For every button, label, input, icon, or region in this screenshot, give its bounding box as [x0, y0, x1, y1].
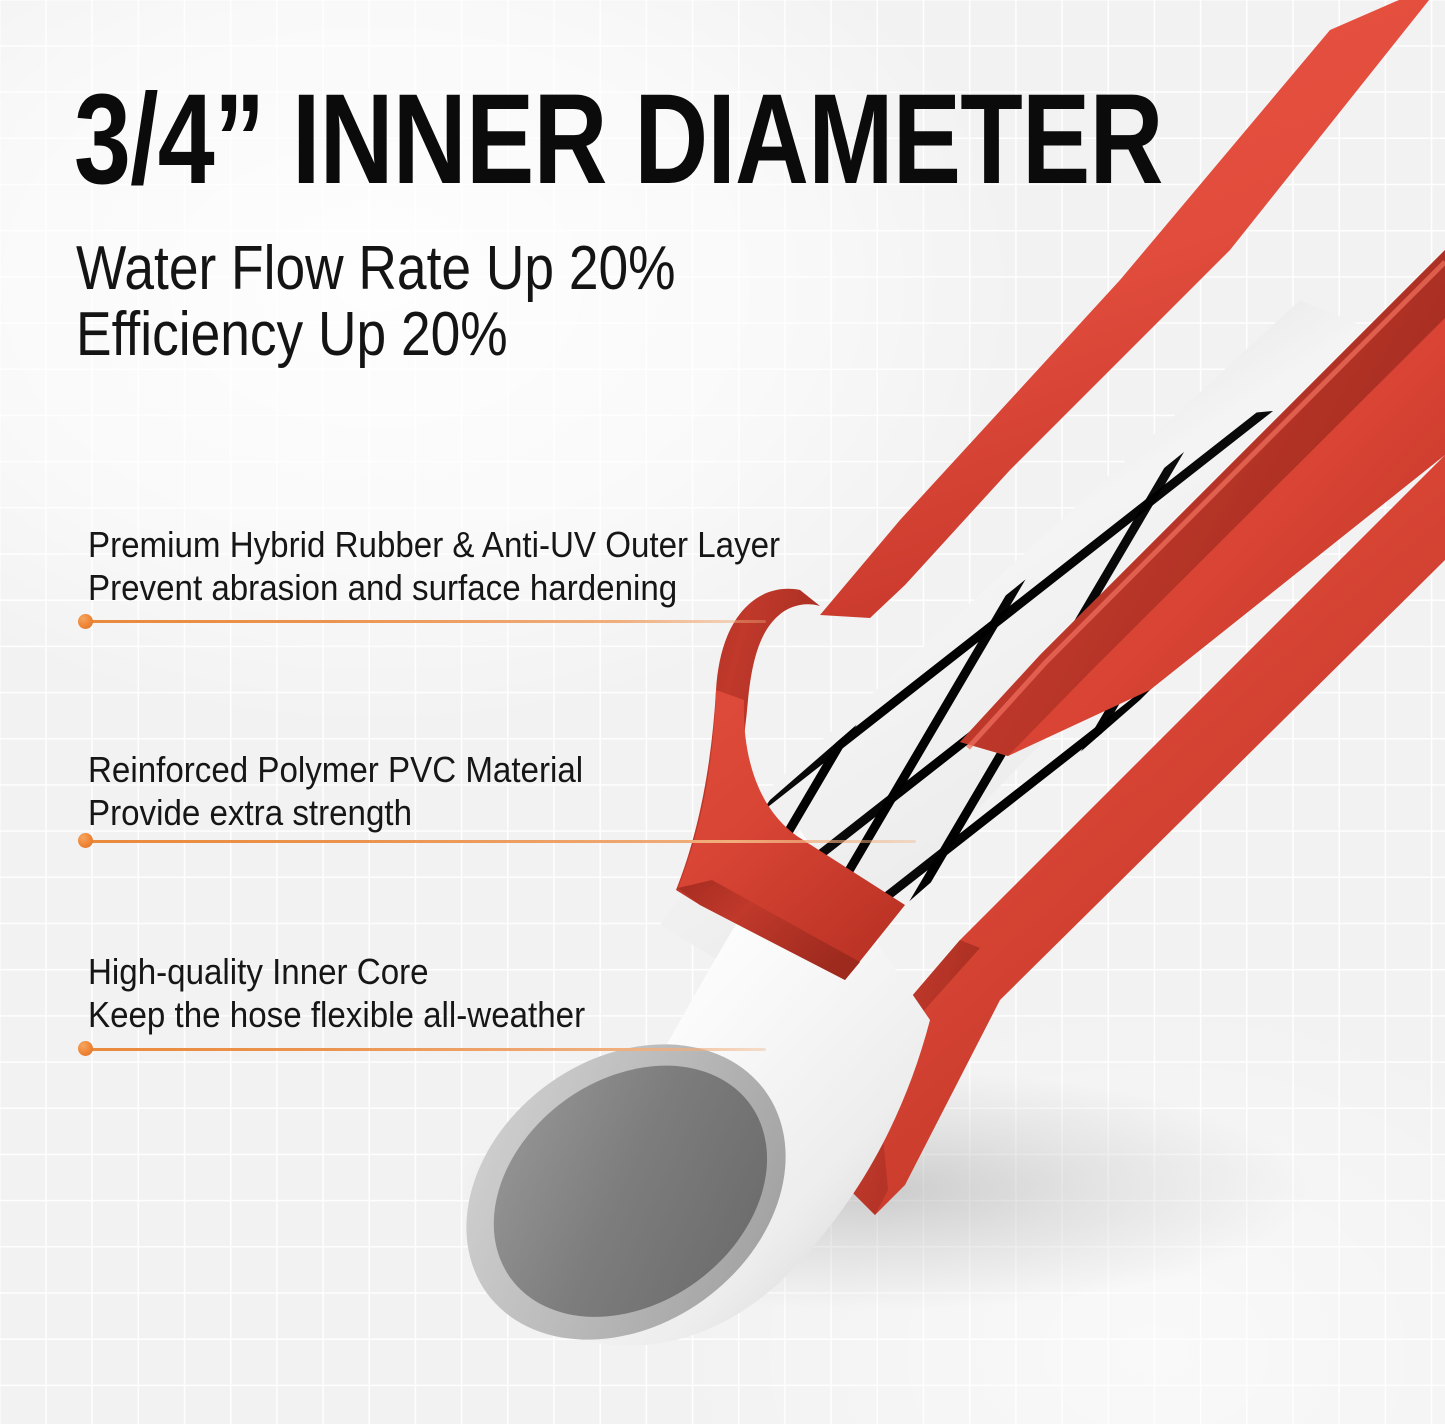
callout-1-leader-line	[88, 620, 766, 623]
page-title: 3/4” INNER DIAMETER	[74, 76, 1163, 204]
subtitle-line-1: Water Flow Rate Up 20%	[76, 236, 676, 302]
callout-3-leader-line	[88, 1048, 766, 1051]
callout-3-bullet-dot	[78, 1041, 93, 1056]
callout-3-text: High-quality Inner Core Keep the hose fl…	[88, 950, 585, 1036]
callout-2-leader-line	[88, 840, 916, 843]
callout-2-title: Reinforced Polymer PVC Material	[88, 748, 583, 791]
callout-2-text: Reinforced Polymer PVC Material Provide …	[88, 748, 583, 834]
callout-1-desc: Prevent abrasion and surface hardening	[88, 566, 780, 609]
page-subtitle: Water Flow Rate Up 20% Efficiency Up 20%	[76, 236, 676, 369]
callout-1-bullet-dot	[78, 614, 93, 629]
callout-1-text: Premium Hybrid Rubber & Anti-UV Outer La…	[88, 523, 780, 609]
callout-3-title: High-quality Inner Core	[88, 950, 585, 993]
callout-1-title: Premium Hybrid Rubber & Anti-UV Outer La…	[88, 523, 780, 566]
grid-background	[0, 0, 1445, 1424]
callout-2-bullet-dot	[78, 833, 93, 848]
callout-3-desc: Keep the hose flexible all-weather	[88, 993, 585, 1036]
infographic-page: 3/4” INNER DIAMETER Water Flow Rate Up 2…	[0, 0, 1445, 1424]
subtitle-line-2: Efficiency Up 20%	[76, 302, 676, 368]
callout-2-desc: Provide extra strength	[88, 791, 583, 834]
